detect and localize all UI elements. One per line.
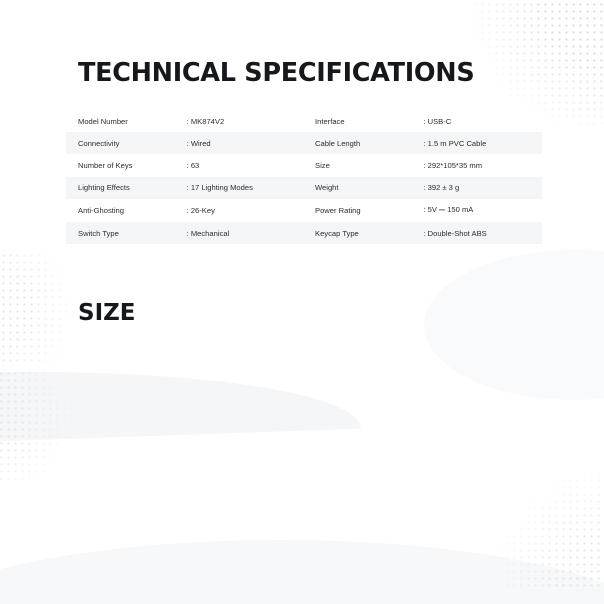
size-diagram: Esc1234567890-=BackspaceTabQWERTYUIOP[]\… — [0, 380, 604, 560]
table-row: Anti-Ghosting: 26-KeyPower Rating: 5V ⎓ … — [66, 199, 542, 222]
spec-value-left: : 63 — [187, 154, 315, 176]
spec-label-right: Interface — [315, 110, 423, 132]
spec-value-right: : 392 ± 3 g — [423, 177, 542, 199]
spec-label-right: Power Rating — [315, 199, 423, 222]
spec-value-left: : Mechanical — [187, 222, 315, 244]
spec-value-left: : Wired — [187, 132, 315, 154]
spec-label-left: Anti-Ghosting — [66, 199, 187, 222]
page-title: TECHNICAL SPECIFICATIONS — [78, 58, 474, 88]
table-row: Connectivity: WiredCable Length: 1.5 m P… — [66, 132, 542, 154]
table-row: Model Number: MK874V2Interface: USB-C — [66, 110, 542, 132]
table-row: Number of Keys: 63Size: 292*105*35 mm — [66, 154, 542, 176]
spec-value-right: : Double-Shot ABS — [423, 222, 542, 244]
table-row: Switch Type: MechanicalKeycap Type: Doub… — [66, 222, 542, 244]
background-swoosh-right — [424, 250, 604, 400]
spec-value-right: : 5V ⎓ 150 mA — [423, 199, 542, 222]
spec-value-left: : 17 Lighting Modes — [187, 177, 315, 199]
spec-value-right: : 1.5 m PVC Cable — [423, 132, 542, 154]
specifications-table-body: Model Number: MK874V2Interface: USB-CCon… — [66, 110, 542, 244]
specifications-table: Model Number: MK874V2Interface: USB-CCon… — [66, 110, 542, 244]
spec-value-left: : MK874V2 — [187, 110, 315, 132]
spec-sheet-page: TECHNICAL SPECIFICATIONS SIZE Model Numb… — [0, 0, 604, 604]
spec-label-right: Weight — [315, 177, 423, 199]
spec-label-right: Keycap Type — [315, 222, 423, 244]
spec-label-left: Switch Type — [66, 222, 187, 244]
spec-label-right: Cable Length — [315, 132, 423, 154]
spec-value-right: : USB-C — [423, 110, 542, 132]
spec-label-left: Number of Keys — [66, 154, 187, 176]
table-row: Lighting Effects: 17 Lighting ModesWeigh… — [66, 177, 542, 199]
spec-label-left: Connectivity — [66, 132, 187, 154]
size-section-title: SIZE — [78, 300, 136, 326]
spec-label-right: Size — [315, 154, 423, 176]
spec-label-left: Lighting Effects — [66, 177, 187, 199]
spec-label-left: Model Number — [66, 110, 187, 132]
spec-value-right: : 292*105*35 mm — [423, 154, 542, 176]
spec-value-left: : 26-Key — [187, 199, 315, 222]
